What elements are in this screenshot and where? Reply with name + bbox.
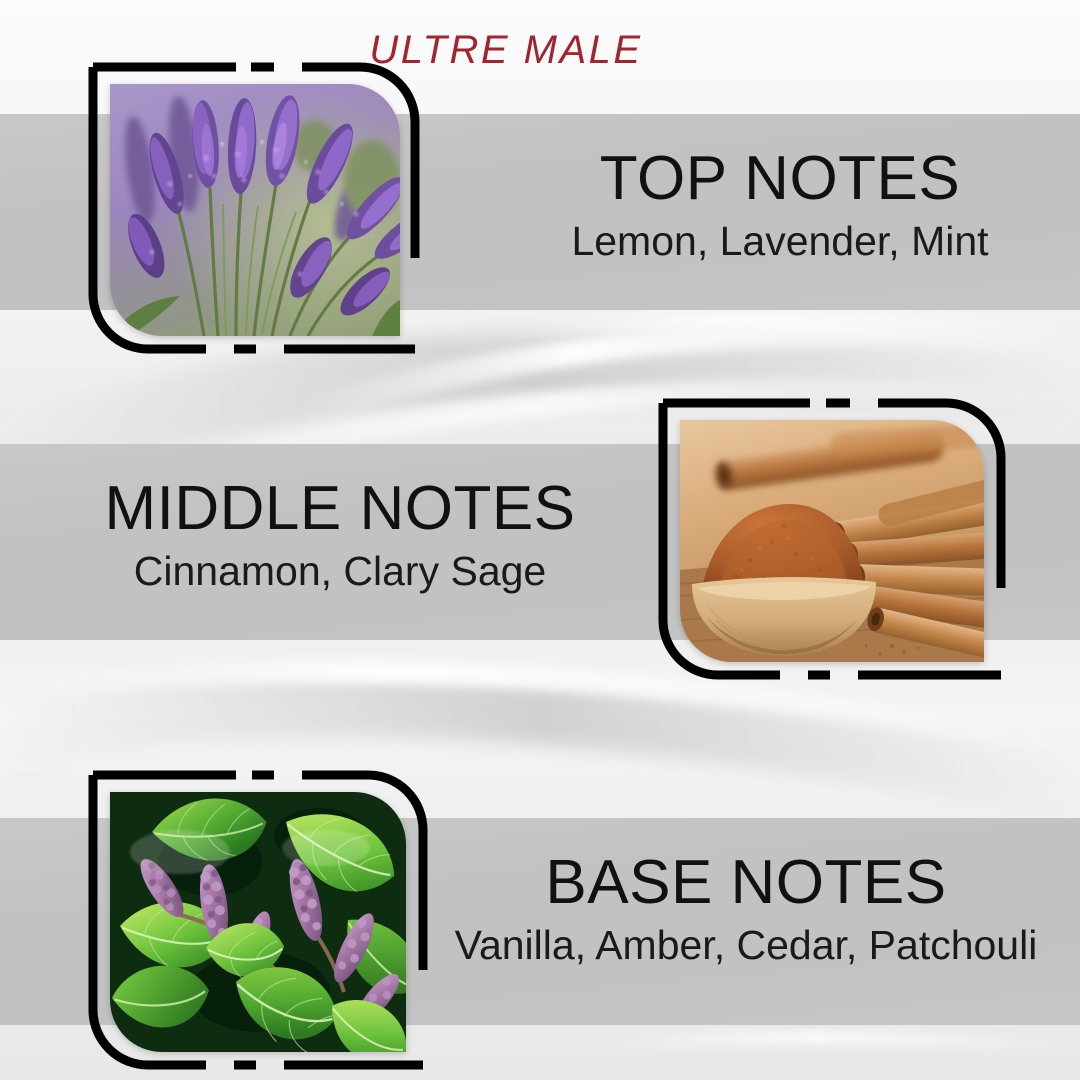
note-title-middle: MIDDLE NOTES [40, 478, 640, 540]
cinnamon-photo [680, 420, 984, 662]
note-block-middle: MIDDLE NOTES Cinnamon, Clary Sage [40, 478, 640, 595]
note-title-base: BASE NOTES [436, 852, 1056, 914]
lavender-photo [110, 84, 400, 336]
fragrance-notes-poster: ULTRE MALE [0, 0, 1080, 1080]
patchouli-photo [110, 792, 406, 1052]
cinnamon-illustration [680, 420, 984, 662]
note-ingredients-base: Vanilla, Amber, Cedar, Patchouli [436, 922, 1056, 969]
note-block-top: TOP NOTES Lemon, Lavender, Mint [520, 148, 1040, 265]
cinnamon-photo-card [658, 398, 1006, 680]
note-ingredients-top: Lemon, Lavender, Mint [520, 218, 1040, 265]
note-ingredients-middle: Cinnamon, Clary Sage [40, 548, 640, 595]
lavender-illustration [110, 84, 400, 336]
patchouli-photo-card [88, 770, 428, 1070]
patchouli-illustration [110, 792, 406, 1052]
lavender-photo-card [88, 62, 420, 354]
note-block-base: BASE NOTES Vanilla, Amber, Cedar, Patcho… [436, 852, 1056, 969]
note-title-top: TOP NOTES [520, 148, 1040, 210]
